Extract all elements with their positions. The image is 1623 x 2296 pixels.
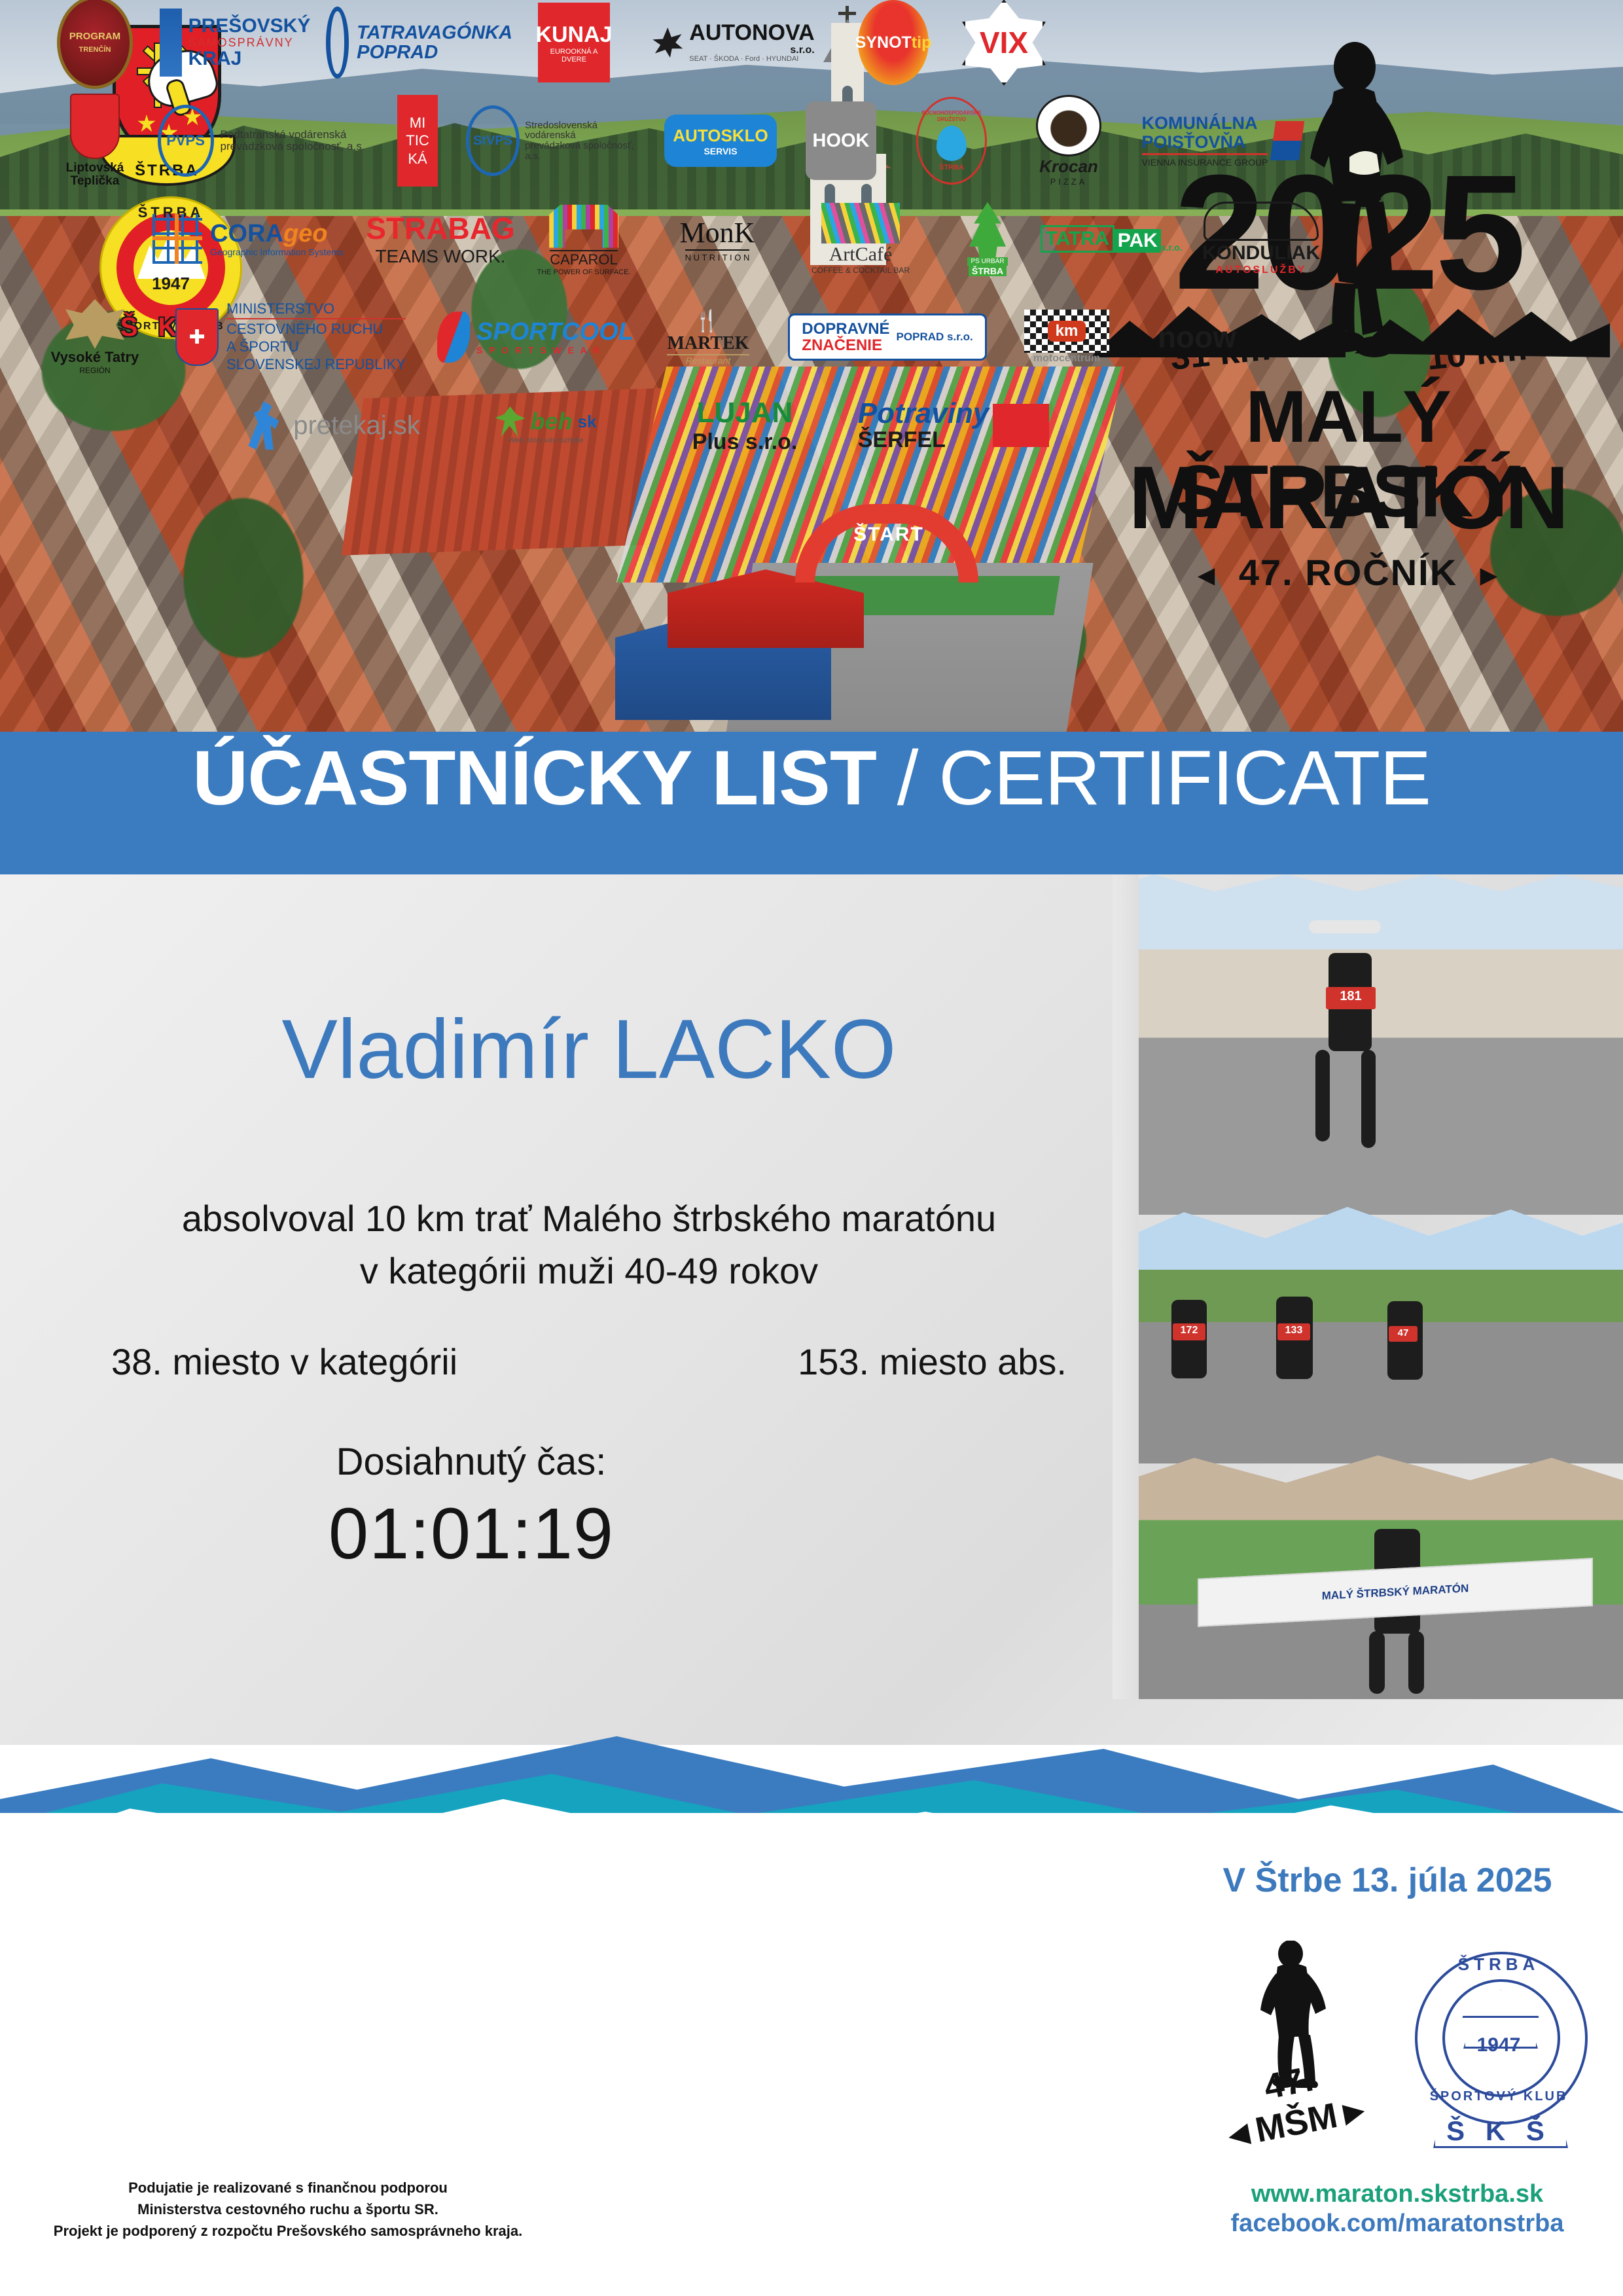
sponsor-row: CORAgeo Geographic Information Systems S…	[46, 190, 1158, 288]
car-icon	[1204, 202, 1319, 241]
sponsor-sublabel: AUTOSLUŽBY	[1215, 264, 1306, 276]
sponsor-sublabel: motocentrum	[1033, 353, 1100, 365]
sponsor-label: MINISTERSTVO	[226, 300, 406, 318]
bib-number: 181	[1326, 987, 1376, 1009]
time-label: Dosiahnutý čas:	[79, 1440, 864, 1484]
sponsor-sublabel: PIZZA	[1050, 177, 1088, 187]
sponsor-sublabel: REGIÓN	[79, 366, 110, 375]
sponsor-sublabel: THE POWER OF SURFACE.	[537, 268, 630, 276]
sponsor-label: MonK	[680, 216, 755, 249]
sponsor-sublabel: CESTOVNÉHO RUCHU	[226, 318, 406, 338]
sponsor-sublabel2: KRAJ	[188, 48, 311, 69]
sponsor-row: Vysoké Tatry REGIÓN ✚ MINISTERSTVO CESTO…	[46, 288, 1158, 386]
sponsor-label: Krocan	[1039, 156, 1098, 177]
website-link[interactable]: www.maraton.skstrba.sk	[1171, 2179, 1623, 2209]
edelweiss-icon	[65, 299, 124, 349]
sponsor-km-motocentrum[interactable]: km motocentrum	[1001, 310, 1132, 365]
runner-leg	[1369, 1631, 1385, 1694]
photo-group-runners: 172 133 47	[1113, 1202, 1623, 1463]
serfel-red-block-icon	[993, 404, 1049, 447]
sponsor-hook[interactable]: HOOK	[792, 101, 890, 180]
bib-number: 172	[1173, 1323, 1205, 1340]
sponsor-label: PVPS	[158, 105, 214, 177]
sponsor-pretekaj-sk[interactable]: pretekaj.sk	[229, 401, 438, 450]
liptovska-crest-icon	[70, 94, 120, 159]
start-arch-label: ŠTART	[830, 524, 948, 546]
sponsor-label: TATRA	[1041, 225, 1115, 253]
sponsor-monk-nutrition[interactable]: MonK N U T R I T I O N	[652, 216, 783, 262]
sponsor-sublabel2: prevádzková spoločnosť, a.s.	[221, 141, 365, 152]
sponsor-sublabel: tip	[912, 33, 932, 52]
absolute-place: 153. miesto abs.	[798, 1340, 1067, 1383]
finish-time: 01:01:19	[79, 1492, 864, 1575]
sponsor-row: pretekaj.sk beh sk Web, ktorý vás rozhýb…	[46, 386, 1158, 465]
sponsor-label: KOMUNÁLNA	[1142, 114, 1268, 132]
sponsor-sublabel2: KÁ	[408, 150, 427, 168]
sponsor-label: AUTOSKLO	[673, 126, 768, 145]
sponsor-sublabel: s.r.o.	[689, 45, 814, 56]
finish-banner: MALÝ ŠTRBSKÝ MARATÓN	[1198, 1558, 1593, 1627]
sponsor-sublabel: ŠERFEL	[858, 429, 990, 452]
sponsor-label: CAPAROL	[550, 250, 618, 268]
sponsor-noow[interactable]: noow	[1141, 319, 1253, 355]
collage-left-edge	[1113, 874, 1139, 1699]
sponsor-liptovska-teplicka[interactable]: Liptovská Teplička	[46, 94, 144, 188]
sponsor-label: SPORTCOOL	[476, 319, 633, 346]
sponsor-strabag[interactable]: STRABAG TEAMS WORK.	[365, 211, 516, 267]
sponsor-label: ArtCafé	[829, 243, 893, 266]
facebook-link[interactable]: facebook.com/maratonstrba	[1171, 2209, 1623, 2238]
sponsor-miticka[interactable]: MI TIC KÁ	[378, 95, 457, 187]
sponsor-grid: PROGRAM TRENČÍN PREŠOVSKÝ SAMOSPRÁVNY KR…	[46, 0, 1158, 465]
sponsor-sublabel: EUROOKNÁ A DVERE	[538, 48, 610, 63]
beh-runner-icon	[495, 406, 526, 437]
description-line-2: v kategórii muži 40-49 rokov	[79, 1245, 1099, 1297]
sponsor-pd-strba[interactable]: POĽNOHOSPODÁRSKE DRUŽSTVO ŠTRBA	[899, 97, 1004, 185]
sponsor-presovsky-kraj[interactable]: PREŠOVSKÝ SAMOSPRÁVNY KRAJ	[153, 9, 317, 77]
club-stamp-logo: ŠTRBA 1947 ŠPORTOVÝ KLUB Š K Š	[1400, 1937, 1597, 2153]
sponsor-sublabel2: Web, ktorý vás rozhýbe	[508, 437, 584, 444]
sponsor-label: HOOK	[806, 101, 876, 180]
bib-number: 47	[1389, 1326, 1418, 1342]
sponsor-row: Liptovská Teplička PVPS Podtatranská vod…	[46, 92, 1158, 190]
sportcool-swoosh-icon	[437, 312, 470, 363]
sponsor-kunaj[interactable]: KUNAJ EUROOKNÁ A DVERE	[522, 3, 626, 82]
artcafe-cup-icon	[821, 203, 900, 243]
contact-links: www.maraton.skstrba.sk facebook.com/mara…	[1171, 2179, 1623, 2238]
certificate-title: ÚČASTNÍCKY LIST / CERTIFICATE	[0, 740, 1623, 817]
sponsor-sublabel: sk	[578, 412, 597, 432]
sponsor-brands: SEAT · ŠKODA · Ford · HYUNDAI	[689, 56, 814, 63]
sponsor-label: Vysoké Tatry	[51, 349, 139, 366]
sponsor-label: STRABAG	[366, 211, 514, 246]
slovakia-crest-icon: ✚	[175, 308, 219, 366]
sponsor-sublabel: COFFEE & COCKTAIL BAR	[811, 266, 910, 275]
sponsor-label: POĽNOHOSPODÁRSKE DRUŽSTVO	[918, 110, 985, 122]
sponsor-label: KONDULIAK	[1202, 242, 1320, 264]
sponsor-ps-urbar-strba[interactable]: PS URBÁR ŠTRBA	[938, 202, 1037, 276]
sponsor-label: PROGRAM	[69, 29, 120, 45]
sponsor-sublabel: S P O R T S W E A R	[476, 346, 633, 355]
sponsor-tatravagonka[interactable]: TATRAVAGÓNKA POPRAD	[326, 7, 512, 79]
sponsor-sublabel2: POPRAD s.r.o.	[897, 331, 973, 344]
sponsor-beh-sk[interactable]: beh sk Web, ktorý vás rozhýbe	[448, 406, 644, 444]
bib-number: 133	[1277, 1323, 1310, 1340]
sponsor-konduliak[interactable]: KONDULIAK AUTOSLUŽBY	[1186, 202, 1336, 276]
sponsor-label: PREŠOVSKÝ	[188, 16, 311, 37]
cutlery-icon: 🍴	[694, 308, 722, 333]
turkey-icon	[1036, 95, 1101, 156]
sponsor-label: AUTONOVA	[689, 22, 814, 45]
caparol-elephant-icon	[544, 202, 623, 248]
tatravagonka-emblem-icon	[326, 7, 349, 79]
sponsor-sublabel2: Geographic Information Systems	[210, 247, 344, 257]
sponsor-sportcool[interactable]: SPORTCOOL S P O R T S W E A R	[437, 312, 633, 363]
sponsor-sublabel3: SLOVENSKEJ REPUBLIKY	[226, 356, 406, 374]
autonova-star-icon	[652, 27, 683, 58]
photo-collage: 181 172 133 47 MALÝ ŠTRBSKÝ MARATÓN	[1113, 874, 1623, 1699]
sponsor-ministerstvo[interactable]: ✚ MINISTERSTVO CESTOVNÉHO RUCHU A ŠPORTU…	[153, 300, 428, 373]
sponsor-label: LUJAN	[697, 397, 793, 429]
date-and-place: V Štrbe 13. júla 2025	[1171, 1861, 1603, 1900]
sponsor-sublabel: SERVIS	[704, 146, 737, 156]
sponsor-sublabel2: s.r.o.	[1161, 242, 1183, 253]
sponsor-label: Liptovská	[66, 162, 124, 175]
sponsor-label: TATRAVAGÓNKA	[357, 23, 512, 43]
sponsor-sublabel2: prevádzková spoločnosť, a.s.	[525, 141, 649, 162]
result-description: absolvoval 10 km trať Malého štrbského m…	[79, 1193, 1099, 1297]
disclaimer-line-1: Podujatie je realizované s finančnou pod…	[39, 2177, 537, 2198]
sponsor-sublabel: PAK	[1115, 229, 1161, 253]
certificate-page: ŠTART ŠTRBA ŠTRBA	[0, 0, 1623, 2296]
title-english: / CERTIFICATE	[876, 735, 1431, 821]
msm-logo: 47. ◄MŠM►	[1211, 1941, 1374, 2150]
msm-logo-label: 47. ◄MŠM►	[1204, 2047, 1380, 2158]
stamp-bottom-text: ŠPORTOVÝ KLUB	[1400, 2089, 1597, 2104]
event-edition: 47. ROČNÍK	[1086, 551, 1610, 594]
sponsor-label: noow	[1158, 319, 1236, 355]
sponsor-sublabel: POISŤOVŇA	[1142, 133, 1268, 155]
runner-leg	[1361, 1050, 1376, 1148]
sponsor-corageo[interactable]: CORAgeo Geographic Information Systems	[140, 214, 356, 264]
sponsor-sublabel2: A ŠPORTU	[226, 338, 406, 356]
sponsor-sublabel: POPRAD	[357, 43, 512, 62]
sponsor-stvps[interactable]: StVPS Stredoslovenská vodárenská prevádz…	[466, 105, 649, 176]
stamp-year: 1947	[1400, 2034, 1597, 2056]
sponsor-row: PROGRAM TRENČÍN PREŠOVSKÝ SAMOSPRÁVNY KR…	[46, 0, 1158, 92]
sponsor-sublabel2: VIENNA INSURANCE GROUP	[1142, 158, 1268, 168]
sponsor-program-trencin[interactable]: PROGRAM TRENČÍN	[46, 0, 144, 89]
sponsor-label: VIX	[962, 0, 1046, 86]
participant-name: Vladimír LACKO	[79, 1008, 1099, 1092]
sponsor-sublabel: geo	[283, 220, 328, 247]
sponsor-artcafe[interactable]: ArtCafé COFFEE & COCKTAIL BAR	[792, 203, 929, 275]
sponsor-tatrapak[interactable]: TATRA PAK s.r.o.	[1046, 225, 1177, 253]
sponsor-dopravne-znacenie[interactable]: DOPRAVNÉ ZNAČENIE POPRAD s.r.o.	[783, 314, 992, 361]
sponsor-sublabel: SAMOSPRÁVNY	[188, 37, 311, 49]
sponsor-label: CORA	[210, 220, 283, 247]
sponsor-sublabel: Restaurant	[686, 355, 730, 366]
sponsor-sublabel: Plus s.r.o.	[692, 429, 798, 455]
event-title-line2: MARATÓN	[1086, 453, 1610, 542]
sponsor-label: SYNOT	[855, 33, 912, 52]
photo-finish-female: 181	[1113, 874, 1623, 1215]
kp-flag-icon	[1270, 121, 1304, 160]
checkered-flag-icon: km	[1024, 310, 1109, 353]
sponsor-label: MARTEK	[667, 333, 749, 355]
disclaimer-line-3: Projekt je podporený z rozpočtu Prešovsk…	[39, 2220, 537, 2242]
placement-row: 38. miesto v kategórii 153. miesto abs.	[79, 1340, 1099, 1383]
sponsor-label: km	[1048, 321, 1086, 342]
sponsor-sublabel: N U T R I T I O N	[685, 249, 750, 262]
stamp-top-text: ŠTRBA	[1400, 1954, 1597, 1975]
sponsor-potraviny-serfel[interactable]: Potraviny ŠERFEL	[846, 399, 1061, 452]
sponsor-sublabel: Stredoslovenská vodárenská	[525, 120, 649, 141]
runner-cap	[1309, 920, 1381, 933]
disclaimer-line-2: Ministerstva cestovného ruchu a športu S…	[39, 2198, 537, 2220]
sponsor-lujan-plus[interactable]: LUJAN Plus s.r.o.	[653, 397, 836, 455]
corageo-grid-icon	[152, 214, 202, 264]
photo-finish-male: MALÝ ŠTRBSKÝ MARATÓN	[1113, 1450, 1623, 1699]
sponsor-autonova[interactable]: AUTONOVA s.r.o. SEAT · ŠKODA · Ford · HY…	[635, 22, 832, 63]
sponsor-sublabel: Podtatranská vodárenská	[221, 129, 365, 141]
sponsor-label: StVPS	[466, 105, 520, 176]
sponsor-vix[interactable]: VIX	[955, 0, 1053, 86]
category-place: 38. miesto v kategórii	[111, 1340, 457, 1383]
sponsor-komunalna-poistovna[interactable]: KOMUNÁLNA POISŤOVŇA VIENNA INSURANCE GRO…	[1133, 114, 1310, 167]
sponsor-label: DOPRAVNÉ	[802, 321, 889, 337]
sponsor-sublabel: TRENČÍN	[69, 45, 120, 56]
description-line-1: absolvoval 10 km trať Malého štrbského m…	[79, 1193, 1099, 1245]
sponsor-label: pretekaj.sk	[293, 411, 419, 440]
sponsor-krocan-pizza[interactable]: Krocan PIZZA	[1013, 95, 1124, 187]
runner-leg	[1315, 1050, 1330, 1141]
sponsor-martek[interactable]: 🍴 MARTEK Restaurant	[643, 308, 774, 366]
water-drop-icon	[936, 126, 967, 161]
stamp-abbr: Š K Š	[1400, 2115, 1597, 2147]
runner-leg	[1408, 1631, 1424, 1694]
sponsor-label: MI	[410, 114, 425, 132]
sponsor-label: beh	[531, 408, 573, 435]
funding-disclaimer: Podujatie je realizované s finančnou pod…	[39, 2177, 537, 2242]
sponsor-sublabel: TIC	[406, 132, 429, 150]
sponsor-label: KUNAJ	[535, 22, 612, 48]
sponsor-sublabel: Teplička	[66, 175, 124, 188]
sponsor-sublabel: ZNAČENIE	[802, 337, 889, 353]
sponsor-sublabel: TEAMS WORK.	[375, 246, 505, 267]
psk-flag-icon	[160, 9, 182, 77]
sponsor-synottip[interactable]: SYNOTtip	[841, 0, 946, 85]
sponsor-autosklo[interactable]: AUTOSKLO SERVIS	[658, 115, 783, 167]
sponsor-label: PS URBÁR	[967, 257, 1007, 266]
sponsor-caparol[interactable]: CAPAROL THE POWER OF SURFACE.	[525, 202, 643, 276]
sponsor-label: Potraviny	[858, 399, 990, 429]
sponsor-sublabel: ŠTRBA	[939, 164, 964, 171]
sponsor-sublabel: ŠTRBA	[969, 266, 1007, 276]
title-slovak: ÚČASTNÍCKY LIST	[192, 735, 876, 821]
sponsor-vysoke-tatry[interactable]: Vysoké Tatry REGIÓN	[46, 299, 144, 375]
sponsor-pvps[interactable]: PVPS Podtatranská vodárenská prevádzková…	[153, 105, 369, 177]
runners-icon	[247, 401, 287, 450]
